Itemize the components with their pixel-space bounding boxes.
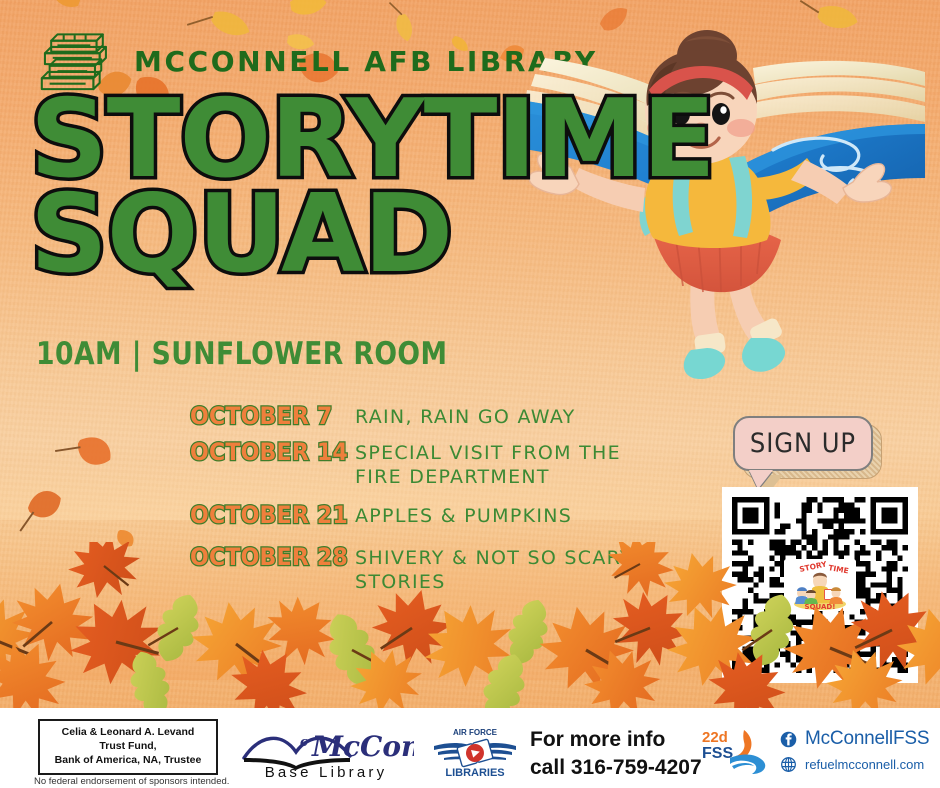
air-force-libraries-logo: AIR FORCE LIBRARIES xyxy=(432,724,518,780)
fss-22d-text: 22d xyxy=(702,729,728,746)
website-url: refuelmcconnell.com xyxy=(805,757,924,772)
schedule-date: OCTOBER 28 xyxy=(190,545,342,570)
schedule-date: OCTOBER 21 xyxy=(190,503,342,528)
base-library-text: Base Library xyxy=(265,764,388,780)
social-links: McConnellFSS refuelmcconnell.com xyxy=(780,728,929,779)
globe-icon xyxy=(780,756,797,773)
22d-fss-logo: 22d FSS xyxy=(700,726,772,778)
sponsor-credit-box: Celia & Leonard A. Levand Trust Fund, Ba… xyxy=(38,719,218,775)
more-info-block: For more info call 316-759-4207 xyxy=(530,726,702,783)
facebook-icon xyxy=(780,731,797,748)
mid-left-leaves xyxy=(0,400,220,620)
speech-bubble[interactable]: SIGN UP xyxy=(733,416,873,471)
fss-text: FSS xyxy=(702,745,733,762)
facebook-handle: McConnellFSS xyxy=(805,728,929,750)
schedule-topic: SHIVERY & NOT SO SCARY STORIES xyxy=(355,545,660,595)
federal-disclaimer: No federal endorsement of sponsors inten… xyxy=(34,776,229,787)
phone-number: call 316-759-4207 xyxy=(530,754,702,782)
sponsor-line-3: Bank of America, NA, Trustee xyxy=(44,753,212,767)
schedule-topic: SPECIAL VISIT FROM THE FIRE DEPARTMENT xyxy=(355,440,660,490)
sponsor-line-1: Celia & Leonard A. Levand xyxy=(44,725,212,739)
schedule-row: OCTOBER 28 SHIVERY & NOT SO SCARY STORIE… xyxy=(190,545,660,595)
poster-canvas: MCCONNELL AFB LIBRARY xyxy=(0,0,940,788)
more-info-line-1: For more info xyxy=(530,726,702,754)
svg-text:c: c xyxy=(300,735,308,750)
qr-code[interactable]: STORY TIME xyxy=(722,487,918,683)
sign-up-callout: SIGN UP xyxy=(733,416,883,488)
schedule-date: OCTOBER 14 xyxy=(190,440,342,465)
mcconnell-base-library-logo: c McConnell Base Library xyxy=(238,724,414,780)
schedule-row: OCTOBER 7 RAIN, RAIN GO AWAY xyxy=(190,404,660,430)
libraries-text: LIBRARIES xyxy=(445,767,504,779)
air-force-text: AIR FORCE xyxy=(453,728,498,737)
website-row[interactable]: refuelmcconnell.com xyxy=(780,756,929,773)
mcconnell-script-text: McConnell xyxy=(311,730,414,763)
schedule-date: OCTOBER 7 xyxy=(190,404,342,429)
sponsor-line-2: Trust Fund, xyxy=(44,739,212,753)
subtitle-time-location: 10AM | SUNFLOWER ROOM xyxy=(36,336,447,372)
footer-bar: Celia & Leonard A. Levand Trust Fund, Ba… xyxy=(0,708,940,788)
facebook-row[interactable]: McConnellFSS xyxy=(780,728,929,750)
schedule-list: OCTOBER 7 RAIN, RAIN GO AWAY OCTOBER 14 … xyxy=(190,404,660,605)
schedule-topic: RAIN, RAIN GO AWAY xyxy=(355,404,660,430)
schedule-topic: APPLES & PUMPKINS xyxy=(355,503,660,529)
qr-center-logo: STORY TIME xyxy=(784,559,856,611)
page-title: STORYTIME SQUAD xyxy=(30,92,715,282)
qr-logo-squad: SQUAD! xyxy=(805,603,836,611)
sign-up-label: SIGN UP xyxy=(750,428,856,459)
schedule-row: OCTOBER 14 SPECIAL VISIT FROM THE FIRE D… xyxy=(190,440,660,490)
schedule-row: OCTOBER 21 APPLES & PUMPKINS xyxy=(190,503,660,529)
